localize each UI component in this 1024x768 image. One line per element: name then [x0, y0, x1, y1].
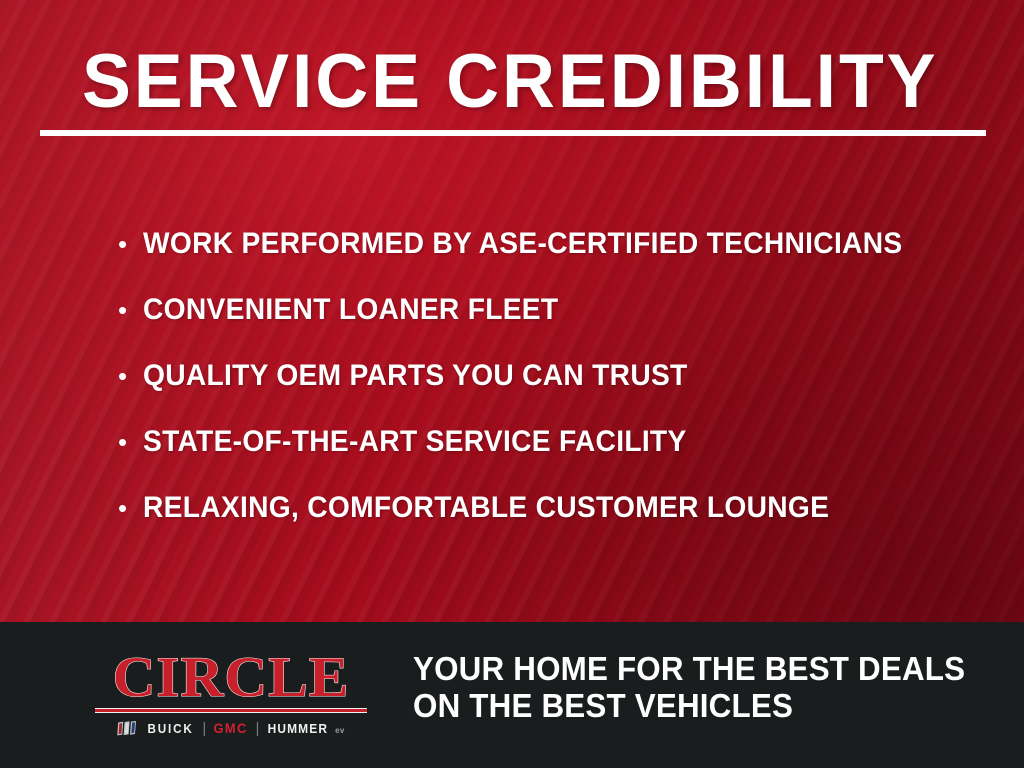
brand-label-hummer-ev-suffix: ev	[335, 726, 345, 735]
bullet-point-icon: •	[118, 429, 143, 455]
page-title: SERVICE CREDIBILITY	[82, 44, 951, 120]
list-item: • WORK PERFORMED BY ASE-CERTIFIED TECHNI…	[118, 228, 978, 294]
bullet-point-icon: •	[118, 495, 143, 521]
list-item-label: QUALITY OEM PARTS YOU CAN TRUST	[143, 360, 688, 392]
brand-separator: |	[255, 721, 259, 736]
footer-tagline: YOUR HOME FOR THE BEST DEALS ON THE BEST…	[413, 650, 964, 724]
list-item: • CONVENIENT LOANER FLEET	[118, 294, 978, 360]
promotional-slide: SERVICE CREDIBILITY • WORK PERFORMED BY …	[0, 0, 1024, 768]
feature-bullet-list: • WORK PERFORMED BY ASE-CERTIFIED TECHNI…	[118, 228, 978, 558]
brand-separator: |	[202, 721, 206, 736]
list-item-label: STATE-OF-THE-ART SERVICE FACILITY	[143, 426, 687, 458]
bullet-point-icon: •	[118, 297, 143, 323]
bullet-point-icon: •	[118, 363, 143, 389]
list-item: • STATE-OF-THE-ART SERVICE FACILITY	[118, 426, 978, 492]
bullet-point-icon: •	[118, 231, 143, 257]
brand-label-buick: BUICK	[148, 721, 194, 736]
footer-tagline-line-2: ON THE BEST VEHICLES	[413, 687, 964, 724]
list-item-label: WORK PERFORMED BY ASE-CERTIFIED TECHNICI…	[143, 228, 902, 260]
brand-lockup-strip: BUICK | GMC | HUMMER ev	[95, 719, 367, 737]
list-item: • RELAXING, COMFORTABLE CUSTOMER LOUNGE	[118, 492, 978, 558]
list-item-label: CONVENIENT LOANER FLEET	[143, 294, 558, 326]
dealership-logo: CIRCLE BUICK	[95, 650, 367, 737]
title-underline-rule	[40, 130, 986, 136]
list-item-label: RELAXING, COMFORTABLE CUSTOMER LOUNGE	[143, 492, 829, 524]
brand-label-hummer: HUMMER	[268, 721, 328, 736]
brand-label-gmc: GMC	[214, 720, 248, 736]
list-item: • QUALITY OEM PARTS YOU CAN TRUST	[118, 360, 978, 426]
footer-tagline-line-1: YOUR HOME FOR THE BEST DEALS	[413, 650, 964, 687]
buick-tri-shield-icon	[117, 721, 139, 736]
footer-bar: CIRCLE BUICK	[0, 622, 1024, 768]
logo-wordmark: CIRCLE	[90, 650, 373, 705]
